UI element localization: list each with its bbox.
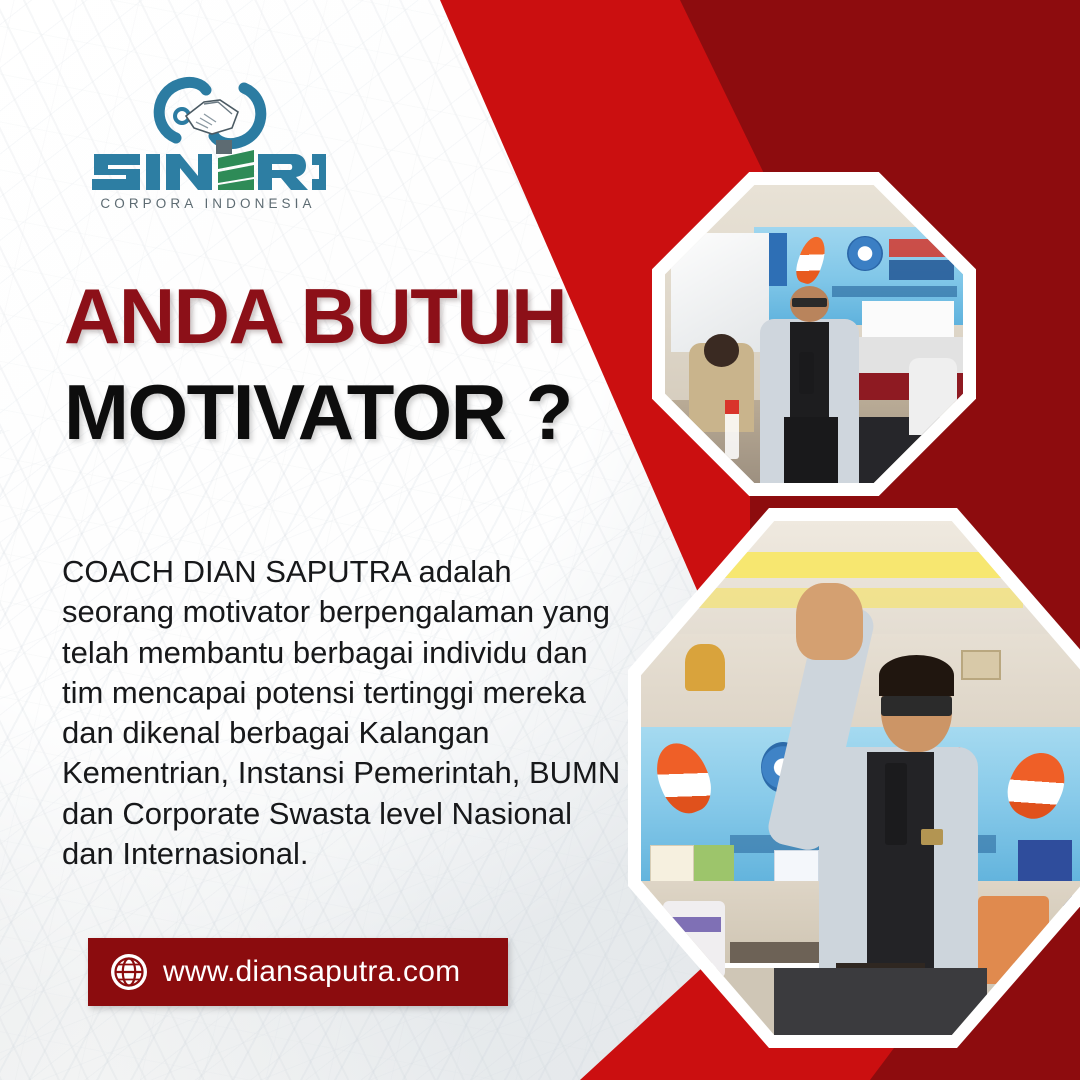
- photo-bottom-scene: [641, 521, 1080, 1035]
- headline-line-1: ANDA BUTUH: [64, 278, 664, 354]
- logo-subtitle: CORPORA INDONESIA: [88, 196, 328, 211]
- photo-top-scene: [665, 185, 963, 483]
- website-button[interactable]: www.diansaputra.com: [88, 938, 508, 1006]
- logo-wordmark: [88, 138, 328, 196]
- body-paragraph: COACH DIAN SAPUTRA adalah seorang motiva…: [62, 552, 622, 874]
- headline-line-2: MOTIVATOR ?: [64, 374, 664, 450]
- website-url-label: www.diansaputra.com: [163, 955, 460, 989]
- company-logo: CORPORA INDONESIA: [88, 72, 328, 222]
- promotional-poster: CORPORA INDONESIA ANDA BUTUH MOTIVATOR ?…: [0, 0, 1080, 1080]
- globe-icon: [110, 953, 148, 991]
- photo-bottom-inner: [641, 521, 1080, 1035]
- headline-block: ANDA BUTUH MOTIVATOR ?: [64, 278, 664, 451]
- photo-top-inner: [665, 185, 963, 483]
